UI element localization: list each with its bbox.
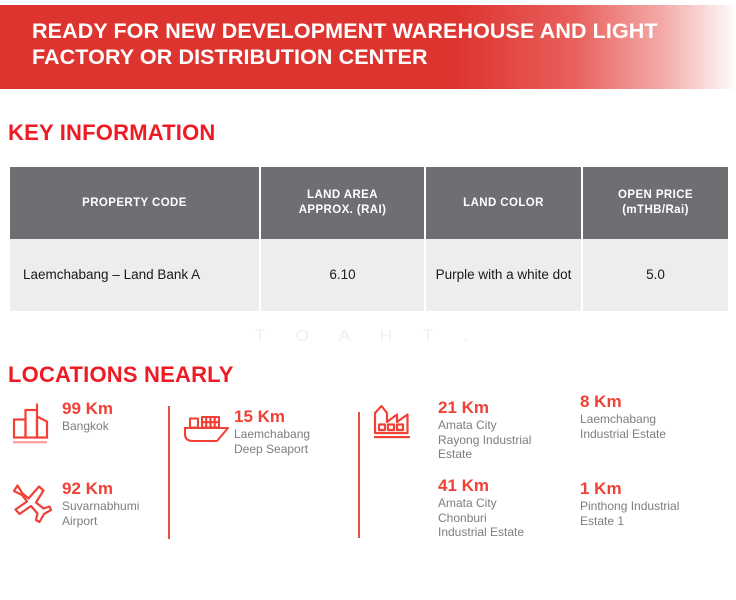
- location-place: Suvarnabhumi Airport: [62, 499, 139, 528]
- city-buildings-icon: [10, 398, 62, 452]
- location-item-seaport: 15 Km Laemchabang Deep Seaport: [182, 406, 350, 456]
- column-header-land-color: LAND COLOR: [426, 167, 581, 239]
- cargo-ship-icon: [182, 406, 234, 454]
- estate-wrapper: 21 Km Amata City Rayong Industrial Estat…: [372, 398, 730, 548]
- locations-city-group: 99 Km Bangkok 92 Km Suvarnabhumi Airport: [10, 398, 160, 532]
- location-place: Laemchabang Deep Seaport: [234, 427, 310, 456]
- key-information-heading: KEY INFORMATION: [8, 120, 216, 146]
- cell-land-area: 6.10: [261, 239, 424, 311]
- location-place: Amata City Chonburi Industrial Estate: [438, 496, 578, 540]
- location-distance: 99 Km: [62, 399, 113, 419]
- watermark: T O A H T .: [0, 326, 736, 346]
- location-distance: 15 Km: [234, 407, 310, 427]
- location-text: 92 Km Suvarnabhumi Airport: [62, 478, 139, 528]
- column-header-open-price: OPEN PRICE (mTHB/Rai): [583, 167, 728, 239]
- factory-icon: [372, 402, 424, 449]
- location-item-amata-rayong: 21 Km Amata City Rayong Industrial Estat…: [438, 398, 578, 462]
- airplane-icon: [10, 478, 62, 532]
- location-item-laemchabang-estate: 8 Km Laemchabang Industrial Estate: [580, 392, 730, 441]
- location-place: Amata City Rayong Industrial Estate: [438, 418, 578, 462]
- column-header-land-area: LAND AREA APPROX. (RAI): [261, 167, 424, 239]
- location-text: 99 Km Bangkok: [62, 398, 113, 434]
- cell-property-code: Laemchabang – Land Bank A: [10, 239, 259, 311]
- locations-estate-group: 21 Km Amata City Rayong Industrial Estat…: [372, 398, 730, 548]
- column-header-property-code: PROPERTY CODE: [10, 167, 259, 239]
- locations-heading: LOCATIONS NEARLY: [8, 362, 234, 388]
- column-divider: [168, 406, 170, 539]
- cell-open-price: 5.0: [583, 239, 728, 311]
- banner-title: READY FOR NEW DEVELOPMENT WAREHOUSE AND …: [32, 18, 704, 70]
- location-distance: 21 Km: [438, 398, 578, 418]
- header-banner: READY FOR NEW DEVELOPMENT WAREHOUSE AND …: [0, 5, 736, 89]
- location-text: 15 Km Laemchabang Deep Seaport: [234, 406, 310, 456]
- table-row: Laemchabang – Land Bank A 6.10 Purple wi…: [10, 239, 728, 311]
- location-item-bangkok: 99 Km Bangkok: [10, 398, 160, 452]
- location-place: Pinthong Industrial Estate 1: [580, 499, 730, 528]
- location-distance: 1 Km: [580, 479, 730, 499]
- locations-port-group: 15 Km Laemchabang Deep Seaport: [182, 398, 350, 456]
- location-distance: 41 Km: [438, 476, 578, 496]
- table-header-row: PROPERTY CODE LAND AREA APPROX. (RAI) LA…: [10, 167, 728, 239]
- location-item-amata-chonburi: 41 Km Amata City Chonburi Industrial Est…: [438, 476, 578, 540]
- locations-section: 99 Km Bangkok 92 Km Suvarnabhumi Airport: [0, 398, 736, 548]
- location-distance: 8 Km: [580, 392, 730, 412]
- column-divider: [358, 412, 360, 538]
- location-place: Bangkok: [62, 419, 113, 434]
- location-distance: 92 Km: [62, 479, 139, 499]
- location-item-airport: 92 Km Suvarnabhumi Airport: [10, 478, 160, 532]
- cell-land-color: Purple with a white dot: [426, 239, 581, 311]
- key-information-table: PROPERTY CODE LAND AREA APPROX. (RAI) LA…: [8, 167, 730, 311]
- location-place: Laemchabang Industrial Estate: [580, 412, 730, 441]
- location-item-pinthong-estate: 1 Km Pinthong Industrial Estate 1: [580, 479, 730, 528]
